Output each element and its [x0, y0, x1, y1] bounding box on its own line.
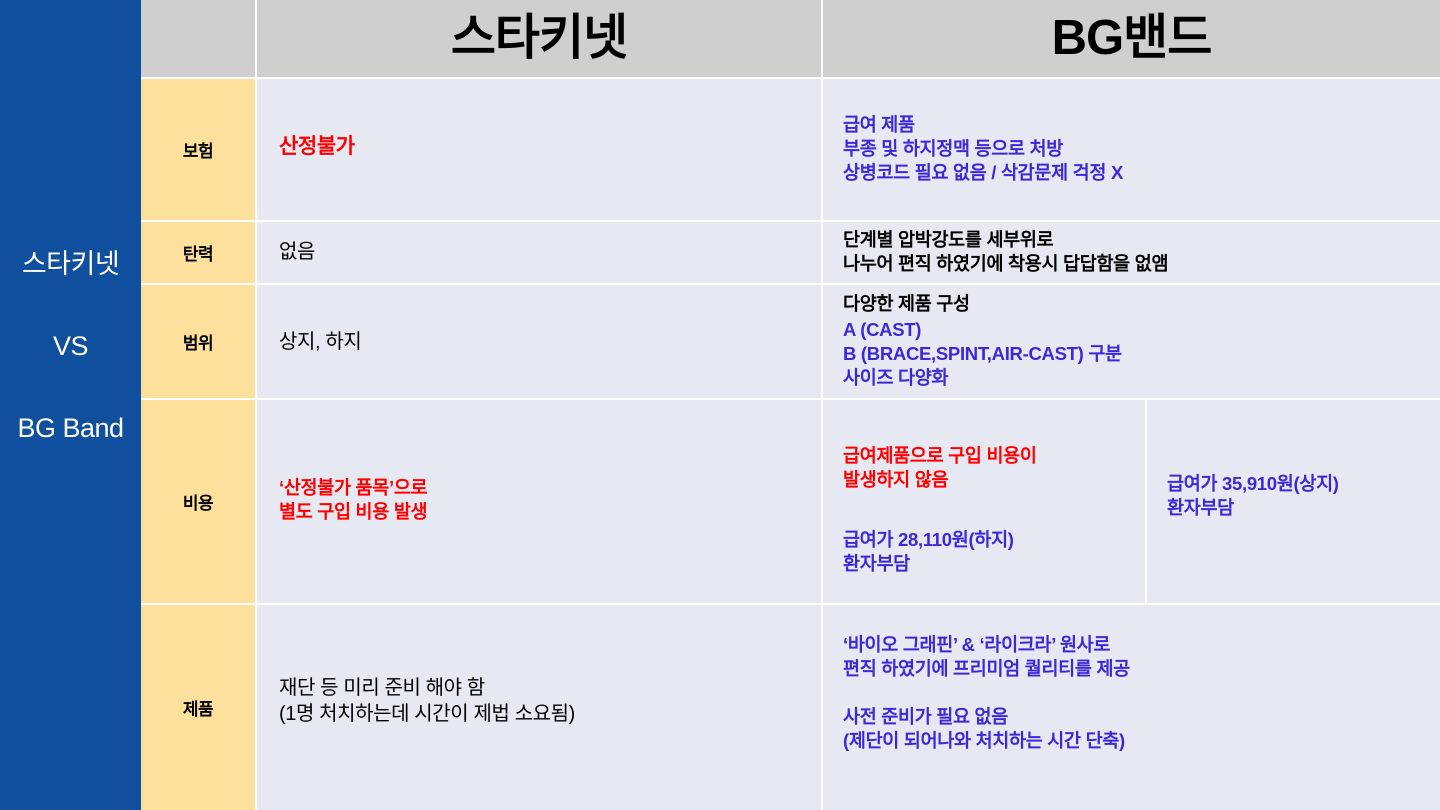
- table-header-starkinet: 스타키넷: [257, 0, 821, 77]
- cell-insurance-bgband: 급여 제품 부종 및 하지정맥 등으로 처방 상병코드 필요 없음 / 삭감문제…: [823, 79, 1440, 220]
- sidebar-title-line-3: BG Band: [0, 414, 141, 442]
- cell-product-bgband-text: ‘바이오 그래핀’ & ‘라이크라’ 원사로 편직 하였기에 프리미엄 퀄리티를…: [843, 633, 1130, 753]
- cell-cost-bgband-right-price: 급여가 35,910원(상지) 환자부담: [1167, 472, 1339, 520]
- header-label-starkinet: 스타키넷: [257, 14, 821, 63]
- sidebar-title-line-2: VS: [0, 332, 141, 360]
- cell-product-starkinet-text: 재단 등 미리 준비 해야 함 (1명 처치하는데 시간이 제법 소요됨): [279, 675, 575, 727]
- row-label-range: 범위: [141, 285, 255, 398]
- header-label-bgband: BG밴드: [823, 14, 1440, 63]
- cell-range-bgband: 다양한 제품 구성 A (CAST) B (BRACE,SPINT,AIR-CA…: [823, 285, 1440, 398]
- cell-cost-bgband-left: 급여제품으로 구입 비용이 발생하지 않음 급여가 28,110원(하지) 환자…: [823, 400, 1145, 603]
- slide-root: 스타키넷 VS BG Band 스타키넷 BG밴드 보험 산정불가 급여 제품 …: [0, 0, 1440, 810]
- sidebar-title-line-1: 스타키넷: [0, 250, 141, 278]
- cell-elasticity-starkinet: 없음: [257, 222, 821, 283]
- comparison-table: 스타키넷 BG밴드 보험 산정불가 급여 제품 부종 및 하지정맥 등으로 처방…: [141, 0, 1440, 810]
- cell-range-starkinet-text: 상지, 하지: [279, 329, 361, 355]
- row-label-text: 제품: [183, 695, 213, 720]
- cell-product-starkinet: 재단 등 미리 준비 해야 함 (1명 처치하는데 시간이 제법 소요됨): [257, 605, 821, 810]
- cell-insurance-starkinet: 산정불가: [257, 79, 821, 220]
- cell-product-bgband: ‘바이오 그래핀’ & ‘라이크라’ 원사로 편직 하였기에 프리미엄 퀄리티를…: [823, 605, 1440, 810]
- row-label-elasticity: 탄력: [141, 222, 255, 283]
- row-label-product: 제품: [141, 605, 255, 810]
- table-header-bgband: BG밴드: [823, 0, 1440, 77]
- cell-cost-starkinet-text: ‘산정불가 품목’으로 별도 구입 비용 발생: [279, 476, 427, 524]
- cell-range-starkinet: 상지, 하지: [257, 285, 821, 398]
- cell-cost-bgband-left-price: 급여가 28,110원(하지) 환자부담: [843, 528, 1014, 576]
- cell-elasticity-bgband-text: 단계별 압박강도를 세부위로 나누어 편직 하였기에 착용시 답답함을 없앰: [843, 228, 1168, 276]
- cell-insurance-bgband-text: 급여 제품 부종 및 하지정맥 등으로 처방 상병코드 필요 없음 / 삭감문제…: [843, 113, 1123, 185]
- cell-cost-bgband-right: 급여가 35,910원(상지) 환자부담: [1147, 400, 1440, 603]
- table-header-corner: [141, 0, 255, 77]
- cell-range-bgband-text: A (CAST) B (BRACE,SPINT,AIR-CAST) 구분 사이즈…: [843, 318, 1122, 390]
- cell-cost-starkinet: ‘산정불가 품목’으로 별도 구입 비용 발생: [257, 400, 821, 603]
- row-label-text: 범위: [183, 329, 213, 354]
- cell-elasticity-starkinet-text: 없음: [279, 239, 315, 265]
- row-label-cost: 비용: [141, 400, 255, 603]
- row-label-text: 보험: [183, 137, 213, 162]
- row-label-insurance: 보험: [141, 79, 255, 220]
- row-label-text: 비용: [183, 489, 213, 514]
- cell-insurance-starkinet-text: 산정불가: [279, 133, 355, 160]
- sidebar-panel: 스타키넷 VS BG Band: [0, 0, 141, 810]
- cell-range-bgband-heading: 다양한 제품 구성: [843, 292, 970, 316]
- cell-cost-bgband-left-highlight: 급여제품으로 구입 비용이 발생하지 않음: [843, 444, 1037, 492]
- row-label-text: 탄력: [183, 240, 213, 265]
- cell-elasticity-bgband: 단계별 압박강도를 세부위로 나누어 편직 하였기에 착용시 답답함을 없앰: [823, 222, 1440, 283]
